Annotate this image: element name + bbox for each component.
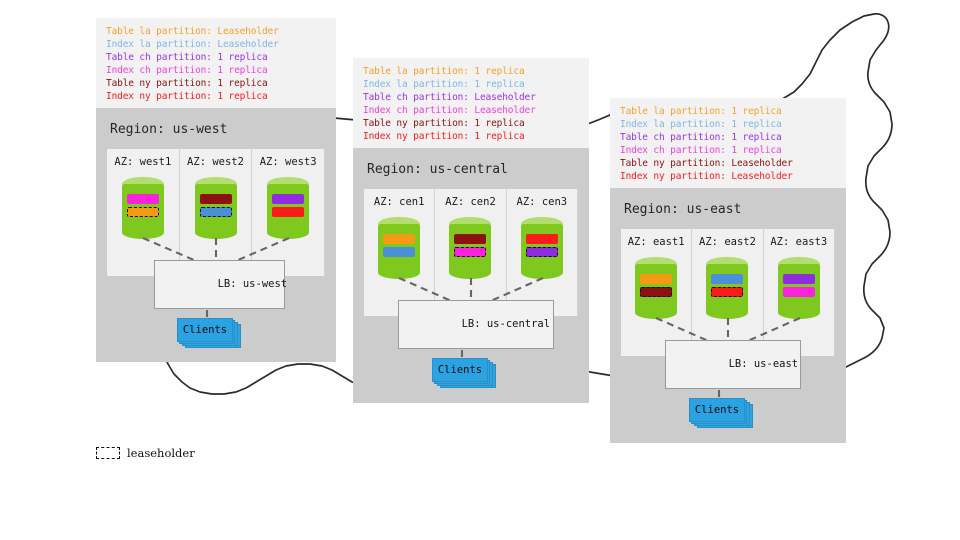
az-label: AZ: cen1 xyxy=(374,196,425,208)
partition-line: Table ny partition: 1 replica xyxy=(363,117,579,130)
az-row-us-central: AZ: cen1 AZ: cen2 xyxy=(364,189,578,316)
db-node-east1[interactable] xyxy=(635,257,677,319)
load-balancer-us-central[interactable]: LB: us-central xyxy=(398,300,554,349)
replica-band xyxy=(200,194,232,204)
replica-bands xyxy=(127,194,159,217)
az-label: AZ: cen2 xyxy=(445,196,496,208)
cylinder-bottom xyxy=(267,226,309,239)
az-label: AZ: east3 xyxy=(770,236,827,248)
replica-bands xyxy=(200,194,232,217)
replica-band xyxy=(711,274,743,284)
db-node-cen1[interactable] xyxy=(378,217,420,279)
az-row-us-east: AZ: east1 AZ: east2 xyxy=(621,229,835,356)
replica-bands xyxy=(640,274,672,297)
partition-legend-us-west: Table la partition: Leaseholder Index la… xyxy=(96,18,336,108)
clients-card: Clients xyxy=(432,358,488,382)
clients-label: Clients xyxy=(695,404,739,416)
deployment-us-east: Table la partition: 1 replica Index la p… xyxy=(610,98,846,443)
replica-band-leaseholder xyxy=(526,247,558,257)
clients-us-central[interactable]: Clients xyxy=(432,358,492,384)
replica-band xyxy=(272,207,304,217)
cylinder-bottom xyxy=(706,306,748,319)
region-panel-us-east: Region: us-east AZ: east1 AZ xyxy=(610,188,846,443)
partition-line: Index la partition: Leaseholder xyxy=(106,38,326,51)
db-node-west1[interactable] xyxy=(122,177,164,239)
az-cell-cen1[interactable]: AZ: cen1 xyxy=(364,189,435,316)
az-cell-west2[interactable]: AZ: west2 xyxy=(180,149,253,276)
clients-us-west[interactable]: Clients xyxy=(177,318,237,344)
cylinder-bottom xyxy=(122,226,164,239)
replica-band xyxy=(383,247,415,257)
az-cell-east3[interactable]: AZ: east3 xyxy=(764,229,835,356)
partition-line: Index ny partition: Leaseholder xyxy=(620,170,836,183)
partition-line: Table ny partition: 1 replica xyxy=(106,77,326,90)
partition-line: Index ny partition: 1 replica xyxy=(363,130,579,143)
deployment-us-west: Table la partition: Leaseholder Index la… xyxy=(96,18,336,362)
replica-band-leaseholder xyxy=(711,287,743,297)
partition-line: Index ch partition: Leaseholder xyxy=(363,104,579,117)
db-node-east3[interactable] xyxy=(778,257,820,319)
partition-line: Index ch partition: 1 replica xyxy=(620,144,836,157)
region-title: Region: us-west xyxy=(110,122,325,137)
replica-band xyxy=(783,274,815,284)
lb-label: LB: us-east xyxy=(729,358,799,370)
db-node-cen2[interactable] xyxy=(449,217,491,279)
replica-band xyxy=(640,274,672,284)
az-label: AZ: cen3 xyxy=(517,196,568,208)
replica-bands xyxy=(383,234,415,257)
dashed-swatch-icon xyxy=(96,447,120,459)
replica-band xyxy=(383,234,415,244)
az-cell-cen3[interactable]: AZ: cen3 xyxy=(507,189,578,316)
cylinder-bottom xyxy=(635,306,677,319)
partition-line: Index ch partition: 1 replica xyxy=(106,64,326,77)
az-label: AZ: west2 xyxy=(187,156,244,168)
clients-card: Clients xyxy=(177,318,233,342)
replica-band xyxy=(454,234,486,244)
az-cell-cen2[interactable]: AZ: cen2 xyxy=(435,189,506,316)
replica-band-leaseholder xyxy=(200,207,232,217)
clients-card: Clients xyxy=(689,398,745,422)
replica-band xyxy=(272,194,304,204)
db-node-west2[interactable] xyxy=(195,177,237,239)
az-cell-east2[interactable]: AZ: east2 xyxy=(692,229,763,356)
partition-line: Table la partition: 1 replica xyxy=(363,65,579,78)
replica-band-leaseholder xyxy=(454,247,486,257)
cylinder-bottom xyxy=(195,226,237,239)
region-panel-us-west: Region: us-west AZ: west1 AZ xyxy=(96,108,336,362)
partition-line: Index ny partition: 1 replica xyxy=(106,90,326,103)
db-node-east2[interactable] xyxy=(706,257,748,319)
partition-line: Index la partition: 1 replica xyxy=(363,78,579,91)
replica-band-leaseholder xyxy=(640,287,672,297)
az-cell-east1[interactable]: AZ: east1 xyxy=(621,229,692,356)
cylinder-bottom xyxy=(449,266,491,279)
cylinder-bottom xyxy=(378,266,420,279)
lb-label: LB: us-central xyxy=(462,318,551,330)
replica-band-leaseholder xyxy=(127,207,159,217)
az-label: AZ: east1 xyxy=(628,236,685,248)
cylinder-bottom xyxy=(521,266,563,279)
az-label: AZ: west1 xyxy=(114,156,171,168)
az-label: AZ: west3 xyxy=(260,156,317,168)
partition-line: Table la partition: 1 replica xyxy=(620,105,836,118)
az-cell-west1[interactable]: AZ: west1 xyxy=(107,149,180,276)
replica-bands xyxy=(711,274,743,297)
replica-bands xyxy=(526,234,558,257)
partition-legend-us-east: Table la partition: 1 replica Index la p… xyxy=(610,98,846,188)
cylinder-bottom xyxy=(778,306,820,319)
diagram-canvas: Table la partition: Leaseholder Index la… xyxy=(0,0,960,540)
region-title: Region: us-east xyxy=(624,202,835,217)
db-node-cen3[interactable] xyxy=(521,217,563,279)
partition-line: Table ch partition: Leaseholder xyxy=(363,91,579,104)
replica-bands xyxy=(454,234,486,257)
replica-band xyxy=(127,194,159,204)
region-title: Region: us-central xyxy=(367,162,578,177)
replica-bands xyxy=(272,194,304,217)
leaseholder-legend-label: leaseholder xyxy=(127,446,195,460)
partition-line: Table ny partition: Leaseholder xyxy=(620,157,836,170)
az-row-us-west: AZ: west1 AZ: west2 xyxy=(107,149,325,276)
partition-line: Index la partition: 1 replica xyxy=(620,118,836,131)
replica-band xyxy=(526,234,558,244)
partition-line: Table la partition: Leaseholder xyxy=(106,25,326,38)
region-panel-us-central: Region: us-central AZ: cen1 xyxy=(353,148,589,403)
db-node-west3[interactable] xyxy=(267,177,309,239)
az-label: AZ: east2 xyxy=(699,236,756,248)
load-balancer-us-west[interactable]: LB: us-west xyxy=(154,260,285,309)
replica-band xyxy=(783,287,815,297)
partition-line: Table ch partition: 1 replica xyxy=(620,131,836,144)
replica-bands xyxy=(783,274,815,297)
leaseholder-legend-key: leaseholder xyxy=(96,446,195,460)
deployment-us-central: Table la partition: 1 replica Index la p… xyxy=(353,58,589,403)
load-balancer-us-east[interactable]: LB: us-east xyxy=(665,340,801,389)
partition-legend-us-central: Table la partition: 1 replica Index la p… xyxy=(353,58,589,148)
clients-us-east[interactable]: Clients xyxy=(689,398,749,424)
clients-label: Clients xyxy=(438,364,482,376)
clients-label: Clients xyxy=(183,324,227,336)
az-cell-west3[interactable]: AZ: west3 xyxy=(252,149,325,276)
lb-label: LB: us-west xyxy=(218,278,288,290)
partition-line: Table ch partition: 1 replica xyxy=(106,51,326,64)
